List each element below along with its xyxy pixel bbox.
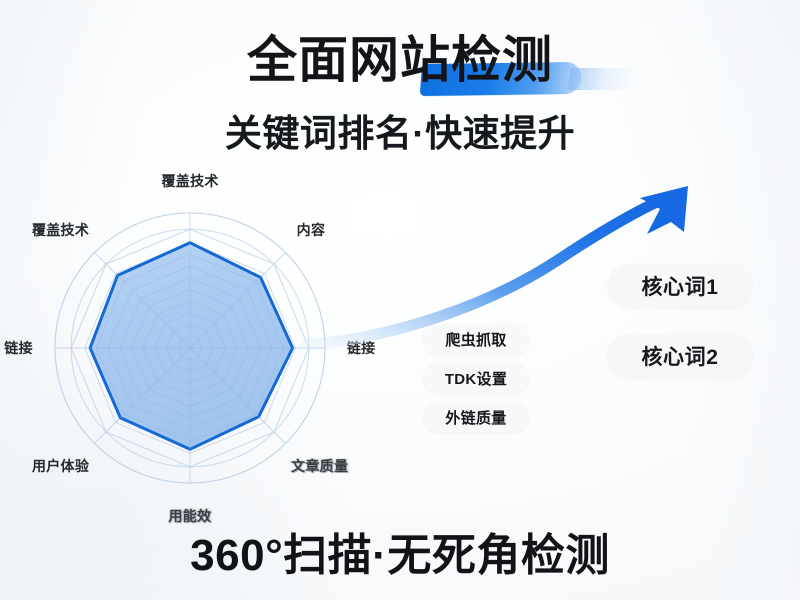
radar-label-top: 覆盖技术: [162, 171, 219, 191]
poster-canvas: 全面网站检测 关键词排名·快速提升 覆盖技术 内容 链接 文章质量 用能效 用户…: [0, 0, 800, 600]
feature-tag-backlink[interactable]: 外链质量: [423, 402, 529, 432]
keyword-tag-2[interactable]: 核心词2: [608, 334, 752, 377]
feature-tag-tdk-label: TDK设置: [445, 368, 507, 389]
radar-label-left: 链接: [4, 338, 33, 358]
page-title: 全面网站检测: [247, 34, 553, 87]
keyword-tag-1-label: 核心词1: [641, 271, 718, 301]
page-title-text: 全面网站检测: [247, 32, 553, 88]
feature-tag-crawl[interactable]: 爬虫抓取: [423, 324, 529, 354]
radar-label-bottom-left: 用户体验: [32, 456, 89, 476]
radar-label-bottom-right: 文章质量: [291, 456, 348, 476]
page-footer-title: 360°扫描·无死角检测: [0, 519, 800, 583]
feature-tag-tdk[interactable]: TDK设置: [423, 363, 529, 393]
radar-inner-rings: [85, 243, 296, 454]
feature-tag-backlink-label: 外链质量: [445, 407, 506, 428]
header-block: 全面网站检测 关键词排名·快速提升: [0, 34, 800, 157]
keyword-tag-2-label: 核心词2: [641, 341, 718, 371]
keyword-tag-1[interactable]: 核心词1: [608, 264, 752, 307]
feature-tag-crawl-label: 爬虫抓取: [445, 329, 506, 350]
radar-label-top-left: 覆盖技术: [32, 220, 89, 240]
title-highlight-tail: [567, 68, 637, 90]
page-subtitle: 关键词排名·快速提升: [0, 103, 800, 157]
